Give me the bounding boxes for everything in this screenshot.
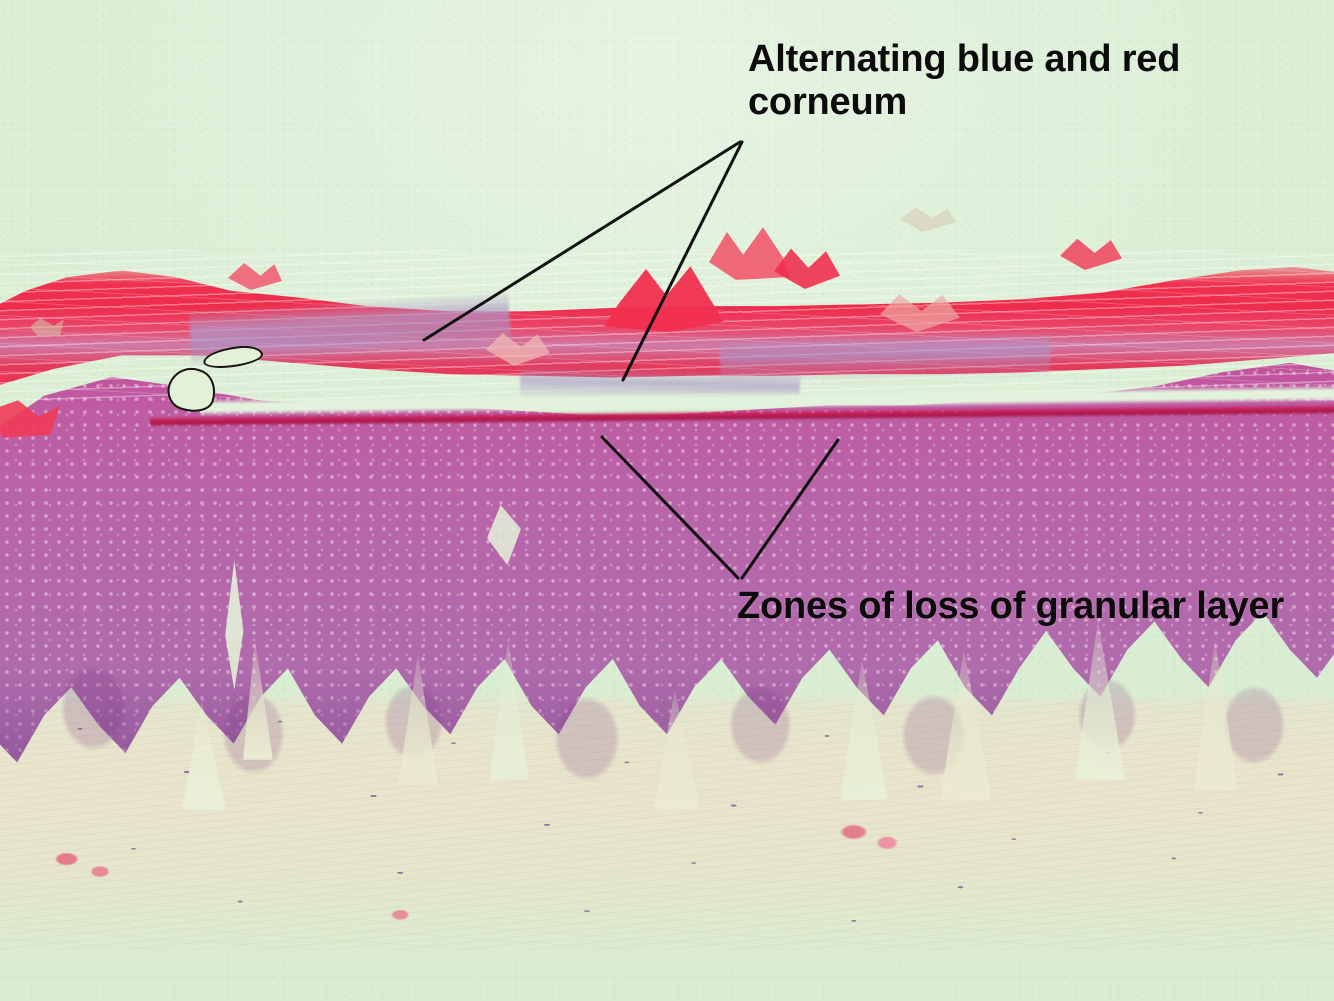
histology-slide-image: Alternating blue and red corneum Zones o… [0,0,1334,1001]
annotation-label-corneum: Alternating blue and red corneum [748,38,1323,123]
annotation-label-granular-layer: Zones of loss of granular layer [737,585,1317,628]
